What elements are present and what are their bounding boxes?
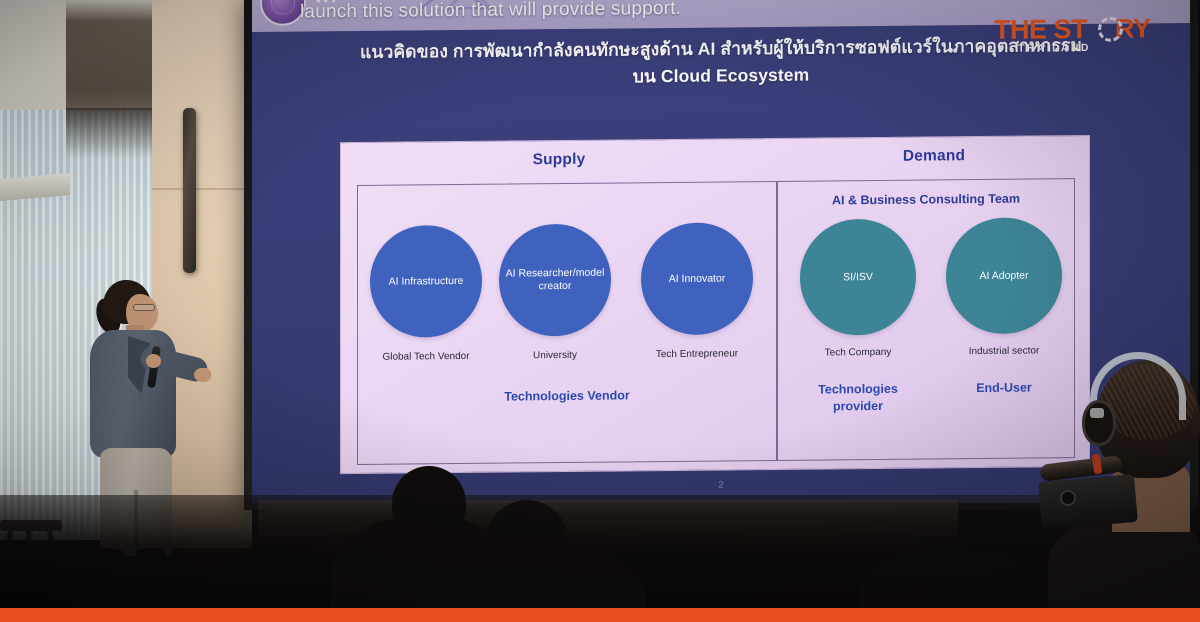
glasses-icon (133, 304, 155, 311)
watermark-sub-text: THAILAND (1018, 42, 1091, 55)
sublabel-tech-company: Tech Company (798, 347, 918, 359)
sublabel-global-tech-vendor: Global Tech Vendor (366, 351, 486, 363)
ceiling-soffit (66, 0, 156, 120)
demand-heading: Demand (777, 146, 1091, 167)
seal-inner-ring (271, 0, 295, 15)
supply-box: AI Infrastructure AI Researcher/model cr… (357, 181, 777, 465)
presentation-screen: W! launch this solution that will provid… (252, 0, 1190, 503)
role-label-end-user: End-User (942, 379, 1066, 397)
headphone-highlight (1090, 408, 1104, 418)
sublabel-university: University (495, 350, 615, 362)
bubble-ai-innovator[interactable]: AI Innovator (641, 222, 753, 335)
headphone-earcup-icon (1082, 400, 1116, 446)
demand-box: AI & Business Consulting Team SI/ISV AI … (777, 178, 1075, 461)
diagram-panel: Supply Demand AI Infrastructure AI Resea… (340, 135, 1090, 474)
wall-speaker-bar (183, 108, 196, 273)
role-label-technologies-vendor: Technologies Vendor (358, 386, 776, 407)
video-camera-body (1038, 474, 1138, 530)
presenter-mic-hand (146, 354, 161, 368)
bottom-orange-bar (0, 608, 1200, 622)
curtain-shadow (66, 108, 158, 158)
sublabel-tech-entrepreneur: Tech Entrepreneur (637, 348, 757, 360)
bubble-si-isv[interactable]: SI/ISV (800, 219, 916, 336)
screenshot-stage: W! launch this solution that will provid… (0, 0, 1200, 622)
camera-knob-icon (1060, 490, 1076, 506)
role-label-technologies-provider: Technologies provider (796, 381, 920, 416)
supply-heading: Supply (341, 149, 777, 171)
story-thailand-watermark: THE SToRY THAILAND (994, 13, 1172, 63)
wall-panel-seam (152, 188, 252, 190)
caption-text: launch this solution that will provide s… (300, 0, 681, 30)
presenter-hand (194, 368, 211, 382)
bubble-ai-researcher[interactable]: AI Researcher/model creator (499, 224, 611, 337)
watermark-brand-text: THE SToRY (994, 13, 1151, 46)
sublabel-industrial-sector: Industrial sector (944, 345, 1064, 357)
bubble-ai-adopter[interactable]: AI Adopter (946, 217, 1062, 334)
slide-canvas: W! launch this solution that will provid… (252, 0, 1190, 503)
demand-subheading: AI & Business Consulting Team (778, 191, 1074, 208)
bubble-ai-infrastructure[interactable]: AI Infrastructure (370, 225, 482, 338)
dashed-circle-icon (1098, 17, 1123, 42)
